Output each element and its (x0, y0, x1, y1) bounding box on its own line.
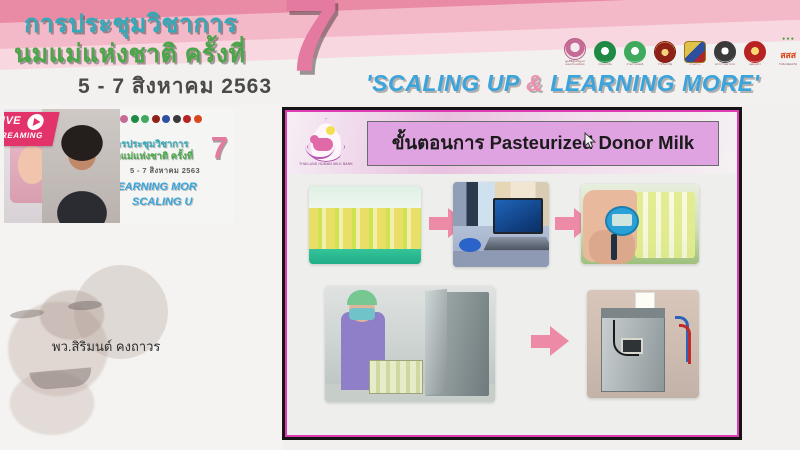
streaming-label: STREAMING (4, 131, 44, 140)
play-icon (26, 114, 45, 130)
thumbnail-dates: 5 - 7 สิงหาคม 2563 (130, 165, 200, 177)
logo-mark (714, 41, 736, 63)
power-cord (613, 320, 639, 356)
royal-thai-government-logo: กระทรวง (683, 41, 707, 67)
photo-temperature-probe-check (581, 184, 699, 264)
pasteurizer-lid (425, 289, 447, 395)
ministry-of-public-health-logo: กรมอนามัย (593, 41, 617, 67)
thumbnail-poster-backdrop: การประชุมวิชาการ นมแม่แห่งชาติ ครั้งที่ … (106, 109, 234, 223)
slogan-part1: 'SCALING UP (366, 70, 526, 96)
thumbnail-edition-number: 7 (211, 132, 228, 163)
logo-mark (564, 38, 586, 60)
logo-caption: ราชวิทยาลัย (653, 64, 677, 67)
photo-nurse-loading-pasteurizer (325, 286, 495, 402)
photo-pasteurizer-machine (587, 290, 699, 398)
photo-laptop-data-recording (453, 182, 549, 267)
thumb-logo-1 (120, 115, 128, 123)
laptop-screen (493, 198, 543, 234)
thumbnail-slogan-line2: SCALING U (132, 196, 193, 208)
photo-milk-bottle-racks (309, 186, 421, 264)
thaihealth-sss-logo: ● ● ● สสส THAI HEALTH (773, 27, 800, 67)
milk-droplet-highlight-icon (326, 126, 335, 135)
red-hose (679, 324, 691, 364)
slogan-ampersand: & (526, 70, 543, 96)
conference-slogan: 'SCALING UP & LEARNING MORE' (366, 70, 760, 97)
sss-dots-icon: ● ● ● (782, 36, 794, 42)
human-milk-bank-logo: THAILAND HUMAN MILK BANK (299, 116, 353, 172)
bottle-tray (369, 360, 423, 394)
screen-root: การประชุมวิชาการ นมแม่แห่งชาติ ครั้งที่ … (0, 0, 800, 450)
pasteurizer-top-panel (601, 308, 665, 318)
logo-caption: กระทรวง (683, 64, 707, 67)
thai-breastfeeding-foundation-logo: มูลนิธิศูนย์นมแม่แห่งประเทศไทย (563, 38, 587, 67)
thumbnail-slogan-line1: 'LEARNING MOR (108, 181, 197, 193)
slide-title: ขั้นตอนการ Pasteurized Donor Milk (392, 129, 694, 158)
conference-edition-number: 7 (282, 0, 340, 88)
process-flow-diagram (287, 174, 737, 437)
logo-mark (594, 41, 616, 63)
speaker-name-label: พว.สิริมนต์ คงถาวร (52, 336, 160, 357)
slogan-part2: LEARNING MORE' (543, 70, 759, 96)
logo-mark (744, 41, 766, 63)
conference-dates: 5 - 7 สิงหาคม 2563 (78, 70, 272, 103)
medical-council-logo: แพทยสภา (743, 41, 767, 67)
face-mask-icon (349, 308, 375, 320)
laptop-keyboard (484, 237, 549, 251)
logo-caption: กรมอนามัย (593, 64, 617, 67)
sss-label: สสส (780, 50, 796, 60)
logo-mark (684, 41, 706, 63)
royal-college-logo: ราชวิทยาลัย (653, 41, 677, 67)
logo-caption: มูลนิธิศูนย์นมแม่แห่งประเทศไทย (563, 61, 587, 67)
presentation-slide: THAILAND HUMAN MILK BANK ขั้นตอนการ Past… (285, 110, 739, 437)
logo-caption: สภาการพยาบาล (713, 64, 737, 67)
thumb-logo-2 (131, 115, 139, 123)
thumb-logo-6 (173, 115, 181, 123)
rack-base (309, 249, 421, 264)
conference-header-banner: การประชุมวิชาการ นมแม่แห่งชาติ ครั้งที่ … (0, 0, 800, 105)
surgical-cap-icon (347, 290, 377, 305)
human-milk-bank-logo-caption: THAILAND HUMAN MILK BANK (297, 162, 355, 166)
nursing-council-logo: สภาการพยาบาล (713, 41, 737, 67)
logo-caption: กรมการแพทย์ (623, 64, 647, 67)
logo-mark (624, 41, 646, 63)
logo-caption: แพทยสภา (743, 64, 767, 67)
thumbnail-title-line2: นมแม่แห่งชาติ ครั้งที่ (108, 149, 193, 164)
desk-surface (453, 251, 549, 267)
live-video-panel[interactable]: การประชุมวิชาการ นมแม่แห่งชาติ ครั้งที่ … (0, 105, 283, 450)
temperature-probe (611, 234, 617, 260)
thumb-logo-3 (141, 115, 149, 123)
slide-title-box: ขั้นตอนการ Pasteurized Donor Milk (367, 121, 719, 166)
flow-arrow-3 (531, 326, 569, 356)
conference-title-line2: นมแม่แห่งชาติ ครั้งที่ (14, 34, 246, 74)
logo-mark (654, 41, 676, 63)
thumbnail-logo-row (120, 115, 202, 123)
meter-display (612, 214, 632, 226)
live-label: LIVE (4, 115, 22, 127)
sponsor-logo-strip: มูลนิธิศูนย์นมแม่แห่งประเทศไทย กรมอนามัย… (563, 27, 800, 67)
thumb-logo-8 (194, 115, 202, 123)
rack-top (309, 186, 421, 208)
presentation-slide-frame[interactable]: THAILAND HUMAN MILK BANK ขั้นตอนการ Past… (282, 107, 742, 440)
department-of-health-logo: กรมการแพทย์ (623, 41, 647, 67)
live-streaming-badge-content: LIVE STREAMING (4, 112, 62, 146)
thumb-logo-7 (183, 115, 191, 123)
thumb-logo-4 (152, 115, 160, 123)
sss-sublabel: THAI HEALTH (773, 64, 800, 67)
thumb-logo-5 (162, 115, 170, 123)
computer-mouse (459, 238, 481, 252)
milk-bottles (635, 192, 695, 258)
speaker-video-thumbnail[interactable]: การประชุมวิชาการ นมแม่แห่งชาติ ครั้งที่ … (4, 109, 234, 223)
